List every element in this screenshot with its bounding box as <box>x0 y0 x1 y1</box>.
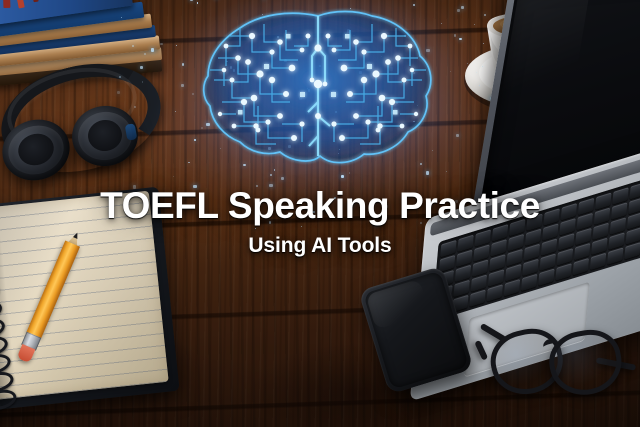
notebook-page-shading <box>0 191 169 401</box>
headphones <box>0 62 148 182</box>
eyeglasses <box>482 308 634 413</box>
spiral-notebook <box>0 186 191 422</box>
banner-image: TOEFL Speaking Practice Using AI Tools <box>0 0 640 427</box>
notebook-page <box>0 191 169 401</box>
glasses-lens-right <box>545 325 627 401</box>
